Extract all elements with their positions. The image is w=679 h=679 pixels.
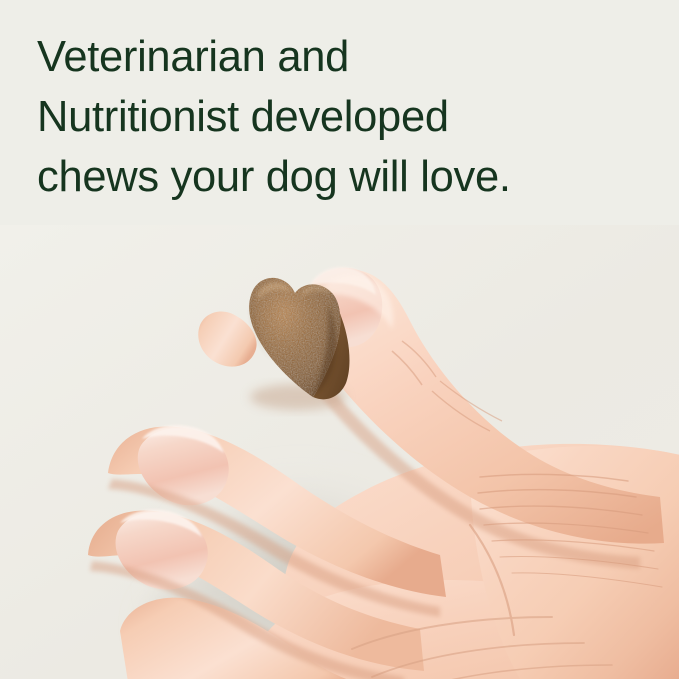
product-lifestyle-image: Veterinarian and Nutritionist developed …: [0, 0, 679, 679]
page-title: Veterinarian and Nutritionist developed …: [37, 27, 637, 207]
hand-with-chew-photo: [0, 225, 679, 679]
